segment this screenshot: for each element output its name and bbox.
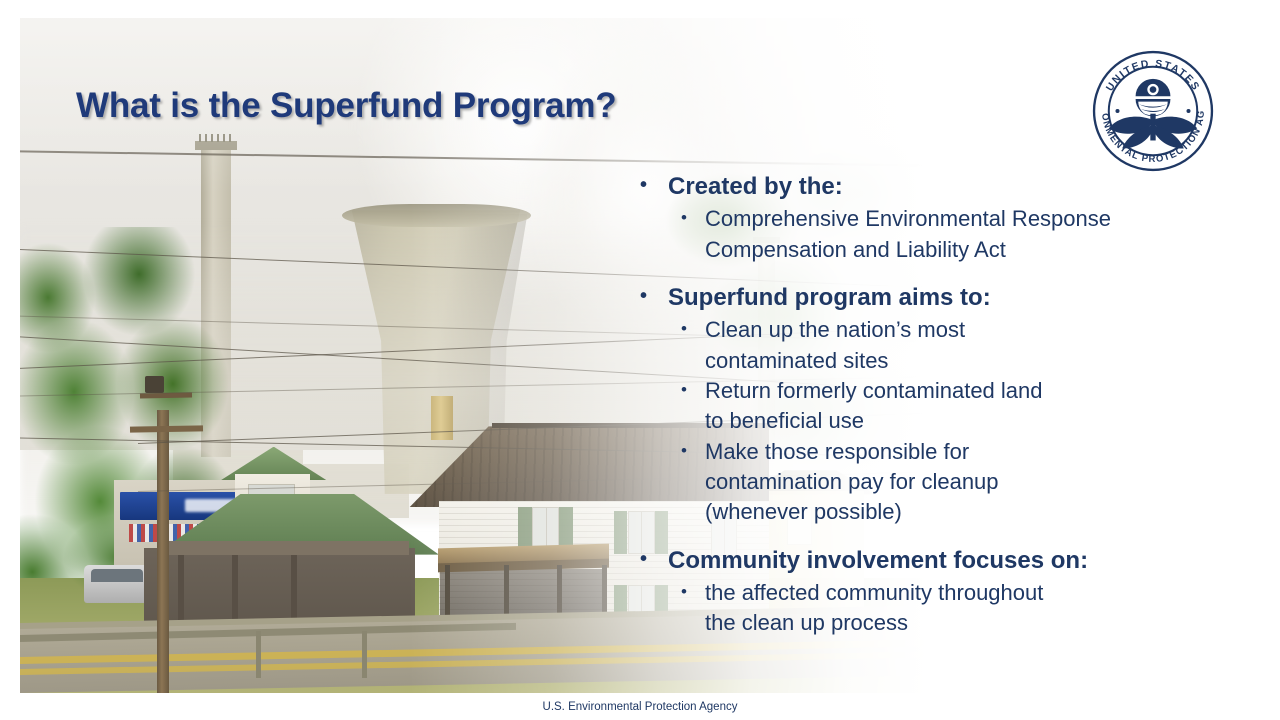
sub-bullet-list: • Comprehensive Environmental Response C…	[640, 204, 1215, 265]
bullet-marker-level2: •	[681, 578, 705, 606]
sub-bullet-item: • Comprehensive Environmental Response	[640, 204, 1215, 234]
bullet-heading: • Community involvement focuses on:	[640, 546, 1215, 575]
bullet-marker-level2: •	[681, 376, 705, 404]
sub-bullet-text: Comprehensive Environmental Response	[705, 204, 1111, 234]
sub-bullet-continuation: contaminated sites	[640, 346, 1215, 376]
epa-seal: UNITED STATES ENVIRONMENTAL PROTECTION A…	[1086, 44, 1220, 178]
sub-bullet-continuation: Compensation and Liability Act	[640, 235, 1215, 265]
sub-bullet-text: Return formerly contaminated land	[705, 376, 1043, 406]
bullet-group-created-by: • Created by the: • Comprehensive Enviro…	[640, 172, 1215, 265]
bullet-heading: • Created by the:	[640, 172, 1215, 201]
sub-bullet-continuation: contamination pay for cleanup	[640, 467, 1215, 497]
sub-bullet-text: (whenever possible)	[705, 497, 902, 527]
bullet-marker-level2: •	[681, 437, 705, 465]
sub-bullet-item: • Make those responsible for	[640, 437, 1215, 467]
sub-bullet-text: to beneficial use	[705, 406, 864, 436]
sub-bullet-continuation: the clean up process	[640, 608, 1215, 638]
page-title: What is the Superfund Program?	[76, 86, 616, 126]
bullet-marker-level1: •	[640, 172, 668, 199]
bullet-heading-text: Superfund program aims to:	[668, 283, 991, 312]
sub-bullet-text: Compensation and Liability Act	[705, 235, 1006, 265]
sub-bullet-text: contamination pay for cleanup	[705, 467, 999, 497]
content-body: • Created by the: • Comprehensive Enviro…	[640, 172, 1215, 639]
seal-blossom-emblem	[1109, 79, 1197, 149]
bullet-heading-text: Community involvement focuses on:	[668, 546, 1088, 575]
bullet-marker-level2: •	[681, 315, 705, 343]
bullet-group-community-involvement: • Community involvement focuses on: • th…	[640, 546, 1215, 639]
sub-bullet-text: Clean up the nation’s most	[705, 315, 965, 345]
slide: What is the Superfund Program? UNITED ST…	[0, 0, 1280, 720]
sub-bullet-list: • Clean up the nation’s most contaminate…	[640, 315, 1215, 528]
sub-bullet-continuation: to beneficial use	[640, 406, 1215, 436]
sub-bullet-item: • Clean up the nation’s most	[640, 315, 1215, 345]
bullet-heading-text: Created by the:	[668, 172, 843, 201]
sub-bullet-text: the affected community throughout	[705, 578, 1043, 608]
sub-bullet-continuation: (whenever possible)	[640, 497, 1215, 527]
sub-bullet-text: contaminated sites	[705, 346, 888, 376]
bullet-marker-level1: •	[640, 546, 668, 573]
sub-bullet-item: • the affected community throughout	[640, 578, 1215, 608]
sub-bullet-item: • Return formerly contaminated land	[640, 376, 1215, 406]
sub-bullet-list: • the affected community throughout the …	[640, 578, 1215, 639]
bullet-group-aims-to: • Superfund program aims to: • Clean up …	[640, 283, 1215, 528]
sub-bullet-text: the clean up process	[705, 608, 908, 638]
bullet-marker-level1: •	[640, 283, 668, 310]
bullet-heading: • Superfund program aims to:	[640, 283, 1215, 312]
footer-text: U.S. Environmental Protection Agency	[0, 701, 1280, 713]
sub-bullet-text: Make those responsible for	[705, 437, 969, 467]
bullet-marker-level2: •	[681, 204, 705, 232]
